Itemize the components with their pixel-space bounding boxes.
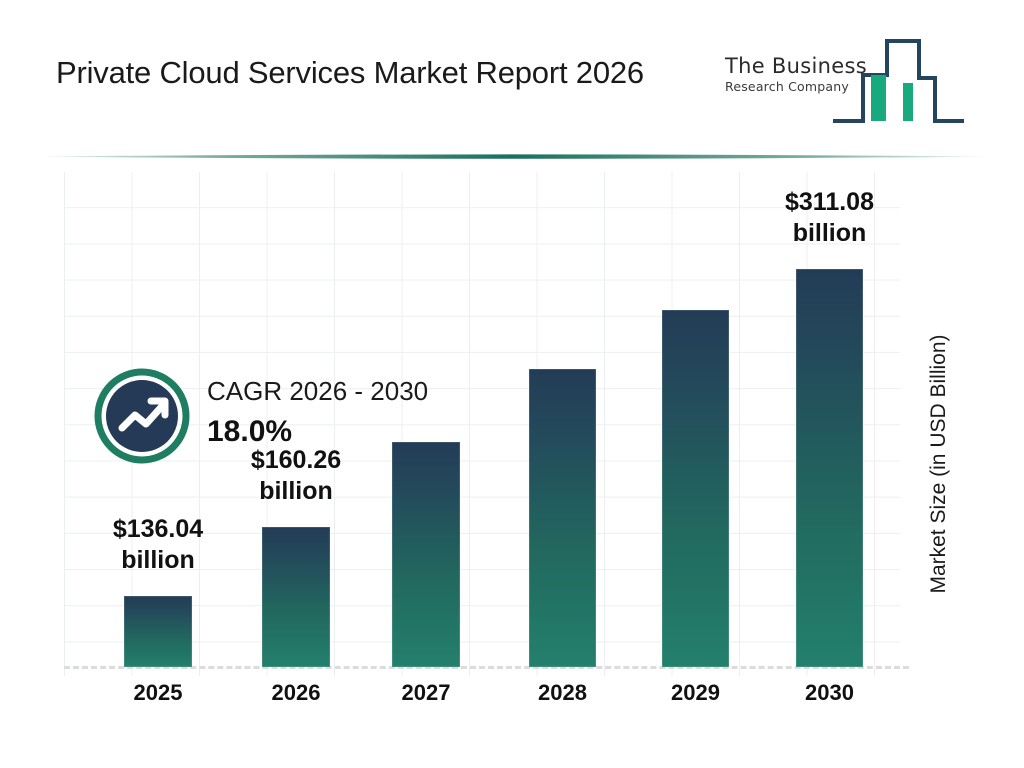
value-label-2025: $136.04billion	[68, 514, 248, 576]
x-label-2030: 2030	[780, 680, 880, 706]
value-label-amount: $311.08	[740, 187, 920, 218]
value-label-amount: $136.04	[68, 514, 248, 545]
x-label-2028: 2028	[513, 680, 613, 706]
bar-2029	[662, 310, 729, 667]
x-label-2029: 2029	[646, 680, 746, 706]
page-title: Private Cloud Services Market Report 202…	[56, 48, 716, 97]
value-label-unit: billion	[68, 545, 248, 576]
cagr-text-block: CAGR 2026 - 2030 18.0%	[207, 374, 428, 452]
value-label-unit: billion	[206, 476, 386, 507]
header-divider	[32, 150, 992, 164]
x-label-2026: 2026	[246, 680, 346, 706]
header: Private Cloud Services Market Report 202…	[0, 0, 1024, 150]
bar-2025	[124, 596, 192, 667]
cagr-period-label: CAGR 2026 - 2030	[207, 374, 428, 408]
x-axis-labels: 202520262027202820292030	[64, 680, 900, 720]
bar-chart: $136.04billion$160.26billion$311.08billi…	[0, 164, 1024, 768]
value-label-unit: billion	[740, 218, 920, 249]
company-logo: The Business Research Company	[723, 30, 973, 130]
value-label-2030: $311.08billion	[740, 187, 920, 249]
skyline-bars-logo-icon	[831, 33, 966, 133]
slide-canvas: Private Cloud Services Market Report 202…	[0, 0, 1024, 768]
x-label-2027: 2027	[376, 680, 476, 706]
cagr-value: 18.0%	[207, 412, 428, 452]
y-axis-title: Market Size (in USD Billion)	[897, 274, 933, 654]
y-axis-title-text: Market Size (in USD Billion)	[927, 274, 951, 654]
bar-2030	[796, 269, 863, 667]
trending-up-icon	[94, 368, 190, 464]
bar-2026	[262, 527, 330, 667]
bar-2027	[392, 442, 460, 667]
x-label-2025: 2025	[108, 680, 208, 706]
bar-2028	[529, 369, 596, 667]
cagr-callout: CAGR 2026 - 2030 18.0%	[94, 366, 514, 470]
